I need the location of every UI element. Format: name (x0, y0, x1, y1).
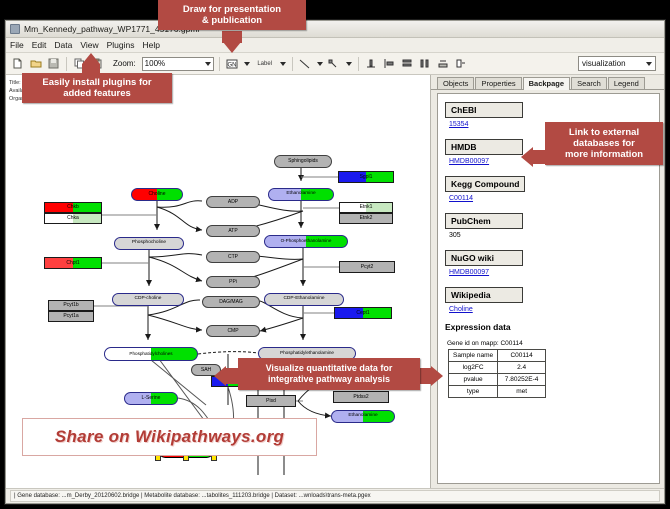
callout-link: Link to external databases for more info… (545, 122, 663, 165)
toolbar: Zoom: 100% GN Label (6, 53, 664, 75)
gene-node[interactable]: Chpt1 (44, 257, 102, 269)
toolbar-separator (219, 57, 220, 71)
metabolite-label: L-Serine (142, 396, 161, 401)
db-link-nugo-wiki[interactable]: HMDB00097 (449, 269, 659, 276)
callout-link-line3: more information (565, 149, 643, 160)
zoom-combo[interactable]: 100% (142, 57, 214, 71)
metabolite-node[interactable]: Phosphatidylcholines (104, 347, 198, 361)
expression-row-label: type (449, 386, 498, 398)
chevron-down-icon[interactable] (205, 62, 211, 66)
gene-label: Pcyt2 (361, 265, 374, 270)
metabolite-label: CMP (227, 329, 238, 334)
callout-share-text: Share on Wikipathways.org (55, 427, 284, 447)
size-equal-icon[interactable] (436, 56, 451, 71)
interaction-icon[interactable] (327, 56, 342, 71)
app-icon (10, 24, 20, 34)
metabolite-node[interactable]: DAG/MAG (202, 296, 260, 308)
svg-text:GN: GN (228, 62, 237, 68)
visualization-value: visualization (582, 59, 626, 68)
db-link-wikipedia[interactable]: Choline (449, 306, 659, 313)
callout-draw-arrow (223, 42, 241, 53)
chevron-down-icon[interactable] (279, 56, 287, 71)
metabolite-node[interactable]: Ethanolamine (331, 410, 395, 423)
callout-draw: Draw for presentation & publication (158, 0, 306, 30)
expression-row-label: log2FC (449, 362, 498, 374)
gene-label: Pisd (266, 399, 276, 404)
gene-node[interactable]: Chkb (44, 202, 102, 213)
tab-legend[interactable]: Legend (608, 77, 645, 89)
gene-node[interactable]: Pisd (246, 395, 296, 407)
metabolite-label: O-Phosphoethanolamine (281, 239, 332, 244)
expression-row: log2FC2.4 (449, 362, 546, 374)
chevron-down-icon[interactable] (316, 56, 324, 71)
gene-label: Ptdss2 (353, 395, 368, 400)
callout-visualize-arrow-right (431, 366, 443, 386)
expression-row-label: pvalue (449, 374, 498, 386)
chevron-down-icon[interactable] (243, 56, 251, 71)
label-tool-text: Label (257, 61, 272, 67)
bring-front-icon[interactable] (454, 56, 469, 71)
toolbar-separator (292, 57, 293, 71)
save-icon[interactable] (46, 56, 61, 71)
callout-draw-line1: Draw for presentation (183, 4, 281, 15)
metabolite-label: Sphingolipids (288, 159, 318, 164)
metabolite-node[interactable]: CDP-choline (112, 293, 184, 306)
toolbar-separator (358, 57, 359, 71)
gene-node[interactable]: Pcyt2 (339, 261, 395, 273)
datanode-icon[interactable]: GN (225, 56, 240, 71)
gene-label: Etnk2 (360, 216, 373, 221)
status-text: | Gene database: ...m_Derby_20120602.bri… (14, 493, 371, 499)
expression-table: Sample nameC00114log2FC2.4pvalue7.80252E… (448, 349, 546, 398)
tab-properties[interactable]: Properties (475, 77, 521, 89)
menu-data[interactable]: Data (54, 40, 72, 50)
gene-label: Chpt1 (66, 261, 79, 266)
gene-node[interactable]: Pcyt1b (48, 300, 94, 311)
metabolite-label: CDP-Ethanolamine (283, 297, 324, 302)
tab-backpage[interactable]: Backpage (523, 77, 570, 90)
expression-row-value: 2.4 (498, 362, 546, 374)
zoom-label: Zoom: (113, 59, 136, 68)
gene-node[interactable]: Chka (44, 213, 102, 224)
metabolite-label: Phosphocholine (132, 241, 166, 246)
callout-plugins-arrow (82, 53, 100, 64)
toolbar-separator (66, 57, 67, 71)
metabolite-node[interactable]: L-Serine (124, 392, 178, 405)
metabolite-label: CTP (228, 255, 238, 260)
callout-visualize: Visualize quantitative data for integrat… (238, 358, 420, 390)
callout-plugins-line2: added features (63, 88, 131, 99)
expression-row-value: C00114 (498, 350, 546, 362)
menu-edit[interactable]: Edit (32, 40, 47, 50)
gene-label: Pcyt1a (63, 314, 78, 319)
callout-link-line2: databases for (573, 138, 635, 149)
metabolite-node[interactable]: Phosphocholine (114, 237, 184, 250)
chevron-down-icon[interactable] (646, 62, 652, 66)
metabolite-node[interactable]: Sphingolipids (274, 155, 332, 168)
expression-row-label: Sample name (449, 350, 498, 362)
gene-node[interactable]: Ptdss2 (333, 391, 389, 403)
expression-row: typemet (449, 386, 546, 398)
db-header-hmdb: HMDB (445, 139, 523, 155)
gene-node[interactable]: Pcyt1a (48, 311, 94, 322)
callout-visualize-line2: integrative pathway analysis (268, 374, 390, 384)
metabolite-label: Phosphatidylcholines (129, 352, 172, 357)
tab-objects[interactable]: Objects (437, 77, 474, 89)
align-left-icon[interactable] (382, 56, 397, 71)
metabolite-node[interactable]: CMP (206, 325, 260, 337)
gene-label: Chkb (67, 205, 79, 210)
metabolite-node[interactable]: Choline (131, 188, 183, 201)
metabolite-label: Phosphatidylethanolamine (280, 351, 334, 356)
metabolite-node[interactable]: ATP (206, 225, 260, 237)
gene-label: Sgpl1 (360, 175, 373, 180)
expression-data-title: Expression data (445, 322, 659, 332)
chevron-down-icon[interactable] (345, 56, 353, 71)
title-bar: Mm_Kennedy_pathway_WP1771_45176.gpml (6, 21, 664, 38)
label-icon[interactable]: Label (254, 56, 276, 71)
side-panel-tabs: Objects Properties Backpage Search Legen… (431, 75, 664, 90)
open-folder-icon[interactable] (28, 56, 43, 71)
gene-label: Etnk1 (360, 205, 373, 210)
db-header-kegg-compound: Kegg Compound (445, 176, 525, 192)
menu-help[interactable]: Help (143, 40, 160, 50)
menu-bar: File Edit Data View Plugins Help (6, 38, 664, 53)
metabolite-label: Choline (149, 192, 166, 197)
expression-row: pvalue7.80252E-4 (449, 374, 546, 386)
callout-visualize-stem-right (418, 368, 432, 384)
metabolite-node[interactable]: O-Phosphoethanolamine (264, 235, 348, 248)
menu-plugins[interactable]: Plugins (107, 40, 135, 50)
gene-node[interactable]: Etnk2 (339, 213, 393, 224)
gene-node[interactable]: Sgpl1 (338, 171, 394, 183)
callout-link-arrow (521, 147, 533, 167)
zoom-value: 100% (145, 59, 165, 68)
callout-visualize-line1: Visualize quantitative data for (266, 363, 393, 373)
metabolite-label: SAH (201, 368, 211, 373)
gene-id-line: Gene id on mapp: C00114 (447, 340, 659, 347)
new-file-icon[interactable] (10, 56, 25, 71)
metabolite-label: PPi (229, 280, 237, 285)
status-bar: | Gene database: ...m_Derby_20120602.bri… (6, 488, 664, 503)
expression-row-value: 7.80252E-4 (498, 374, 546, 386)
metabolite-node[interactable]: ADP (206, 196, 260, 208)
gene-node[interactable]: Etnk1 (339, 202, 393, 213)
metabolite-label: ATP (228, 229, 237, 234)
metabolite-node[interactable]: PPi (206, 276, 260, 288)
db-header-chebi: ChEBI (445, 102, 523, 118)
stack-vertical-icon[interactable] (400, 56, 415, 71)
visualization-combo[interactable]: visualization (578, 56, 656, 71)
gene-node[interactable]: Cept1 (334, 307, 392, 319)
db-value-pubchem: 305 (449, 232, 659, 239)
gene-label: Pcyt1b (63, 303, 78, 308)
callout-plugins-line1: Easily install plugins for (42, 77, 151, 88)
metabolite-label: ADP (228, 200, 238, 205)
db-header-wikipedia: Wikipedia (445, 287, 523, 303)
callout-link-line1: Link to external (569, 127, 639, 138)
metabolite-label: Ethanolamine (286, 192, 315, 197)
expression-row: Sample nameC00114 (449, 350, 546, 362)
metabolite-label: CDP-choline (135, 297, 162, 302)
metabolite-node[interactable]: CDP-Ethanolamine (264, 293, 344, 306)
metabolite-label: Ethanolamine (348, 414, 377, 419)
db-link-kegg-compound[interactable]: C00114 (449, 195, 659, 202)
callout-draw-line2: & publication (202, 15, 262, 26)
metabolite-label: DAG/MAG (219, 300, 243, 305)
callout-plugins: Easily install plugins for added feature… (22, 73, 172, 103)
db-header-pubchem: PubChem (445, 213, 523, 229)
gene-label: Chka (67, 216, 79, 221)
align-top-icon[interactable] (364, 56, 379, 71)
gene-label: Cept1 (356, 311, 369, 316)
db-header-nugo-wiki: NuGO wiki (445, 250, 523, 266)
callout-share: Share on Wikipathways.org (22, 418, 317, 456)
distribute-horizontal-icon[interactable] (418, 56, 433, 71)
expression-row-value: met (498, 386, 546, 398)
menu-file[interactable]: File (10, 40, 24, 50)
callout-visualize-arrow-left (214, 366, 226, 386)
menu-view[interactable]: View (80, 40, 98, 50)
line-icon[interactable] (298, 56, 313, 71)
metabolite-node[interactable]: CTP (206, 251, 260, 263)
metabolite-node[interactable]: Ethanolamine (268, 188, 334, 201)
tab-search[interactable]: Search (571, 77, 607, 89)
